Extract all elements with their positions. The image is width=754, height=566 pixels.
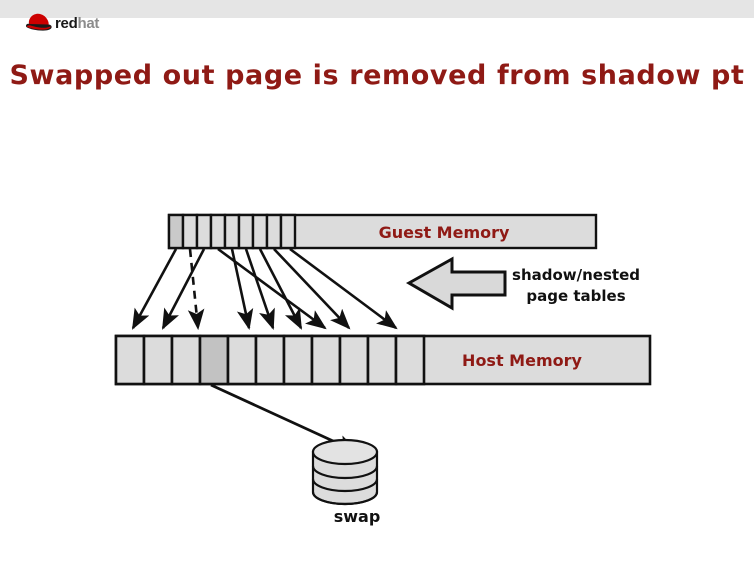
mapping-arrows (133, 249, 396, 328)
guest-memory-cell (239, 215, 253, 248)
mapping-arrow-line (260, 249, 301, 328)
guest-memory-cell (267, 215, 281, 248)
host-memory-cell (256, 336, 284, 384)
mapping-arrow-line (274, 249, 349, 328)
guest-memory-cell (197, 215, 211, 248)
host-memory-cell (284, 336, 312, 384)
shadow-page-tables-label-line1: shadow/nested (512, 266, 640, 284)
guest-memory-cell (169, 215, 183, 248)
host-memory-label: Host Memory (462, 351, 582, 370)
swap-disk-icon (313, 440, 377, 504)
host-memory-cell (116, 336, 144, 384)
host-memory-cell (396, 336, 424, 384)
guest-memory-cell (253, 215, 267, 248)
guest-memory-bar: Guest Memory (169, 215, 596, 248)
shadow-page-tables-arrow (409, 259, 505, 308)
guest-memory-cell (183, 215, 197, 248)
mapping-arrow-line (246, 249, 273, 328)
guest-memory-cell (211, 215, 225, 248)
host-memory-cell (172, 336, 200, 384)
host-memory-cell (228, 336, 256, 384)
host-memory-cell (368, 336, 396, 384)
host-memory-cell-highlighted (200, 336, 228, 384)
shadow-page-tables-label-line2: page tables (526, 287, 625, 305)
guest-memory-cell (281, 215, 295, 248)
swap-label: swap (334, 507, 381, 526)
memory-mapping-diagram: Guest Memory shadow/nested page tables H… (0, 0, 754, 566)
host-memory-cell (312, 336, 340, 384)
guest-memory-label: Guest Memory (379, 223, 510, 242)
mapping-arrow-line (218, 249, 325, 328)
mapping-arrow-line (290, 249, 396, 328)
host-memory-cell (144, 336, 172, 384)
guest-memory-cell (225, 215, 239, 248)
host-memory-bar: Host Memory (116, 336, 650, 384)
host-memory-cell (340, 336, 368, 384)
